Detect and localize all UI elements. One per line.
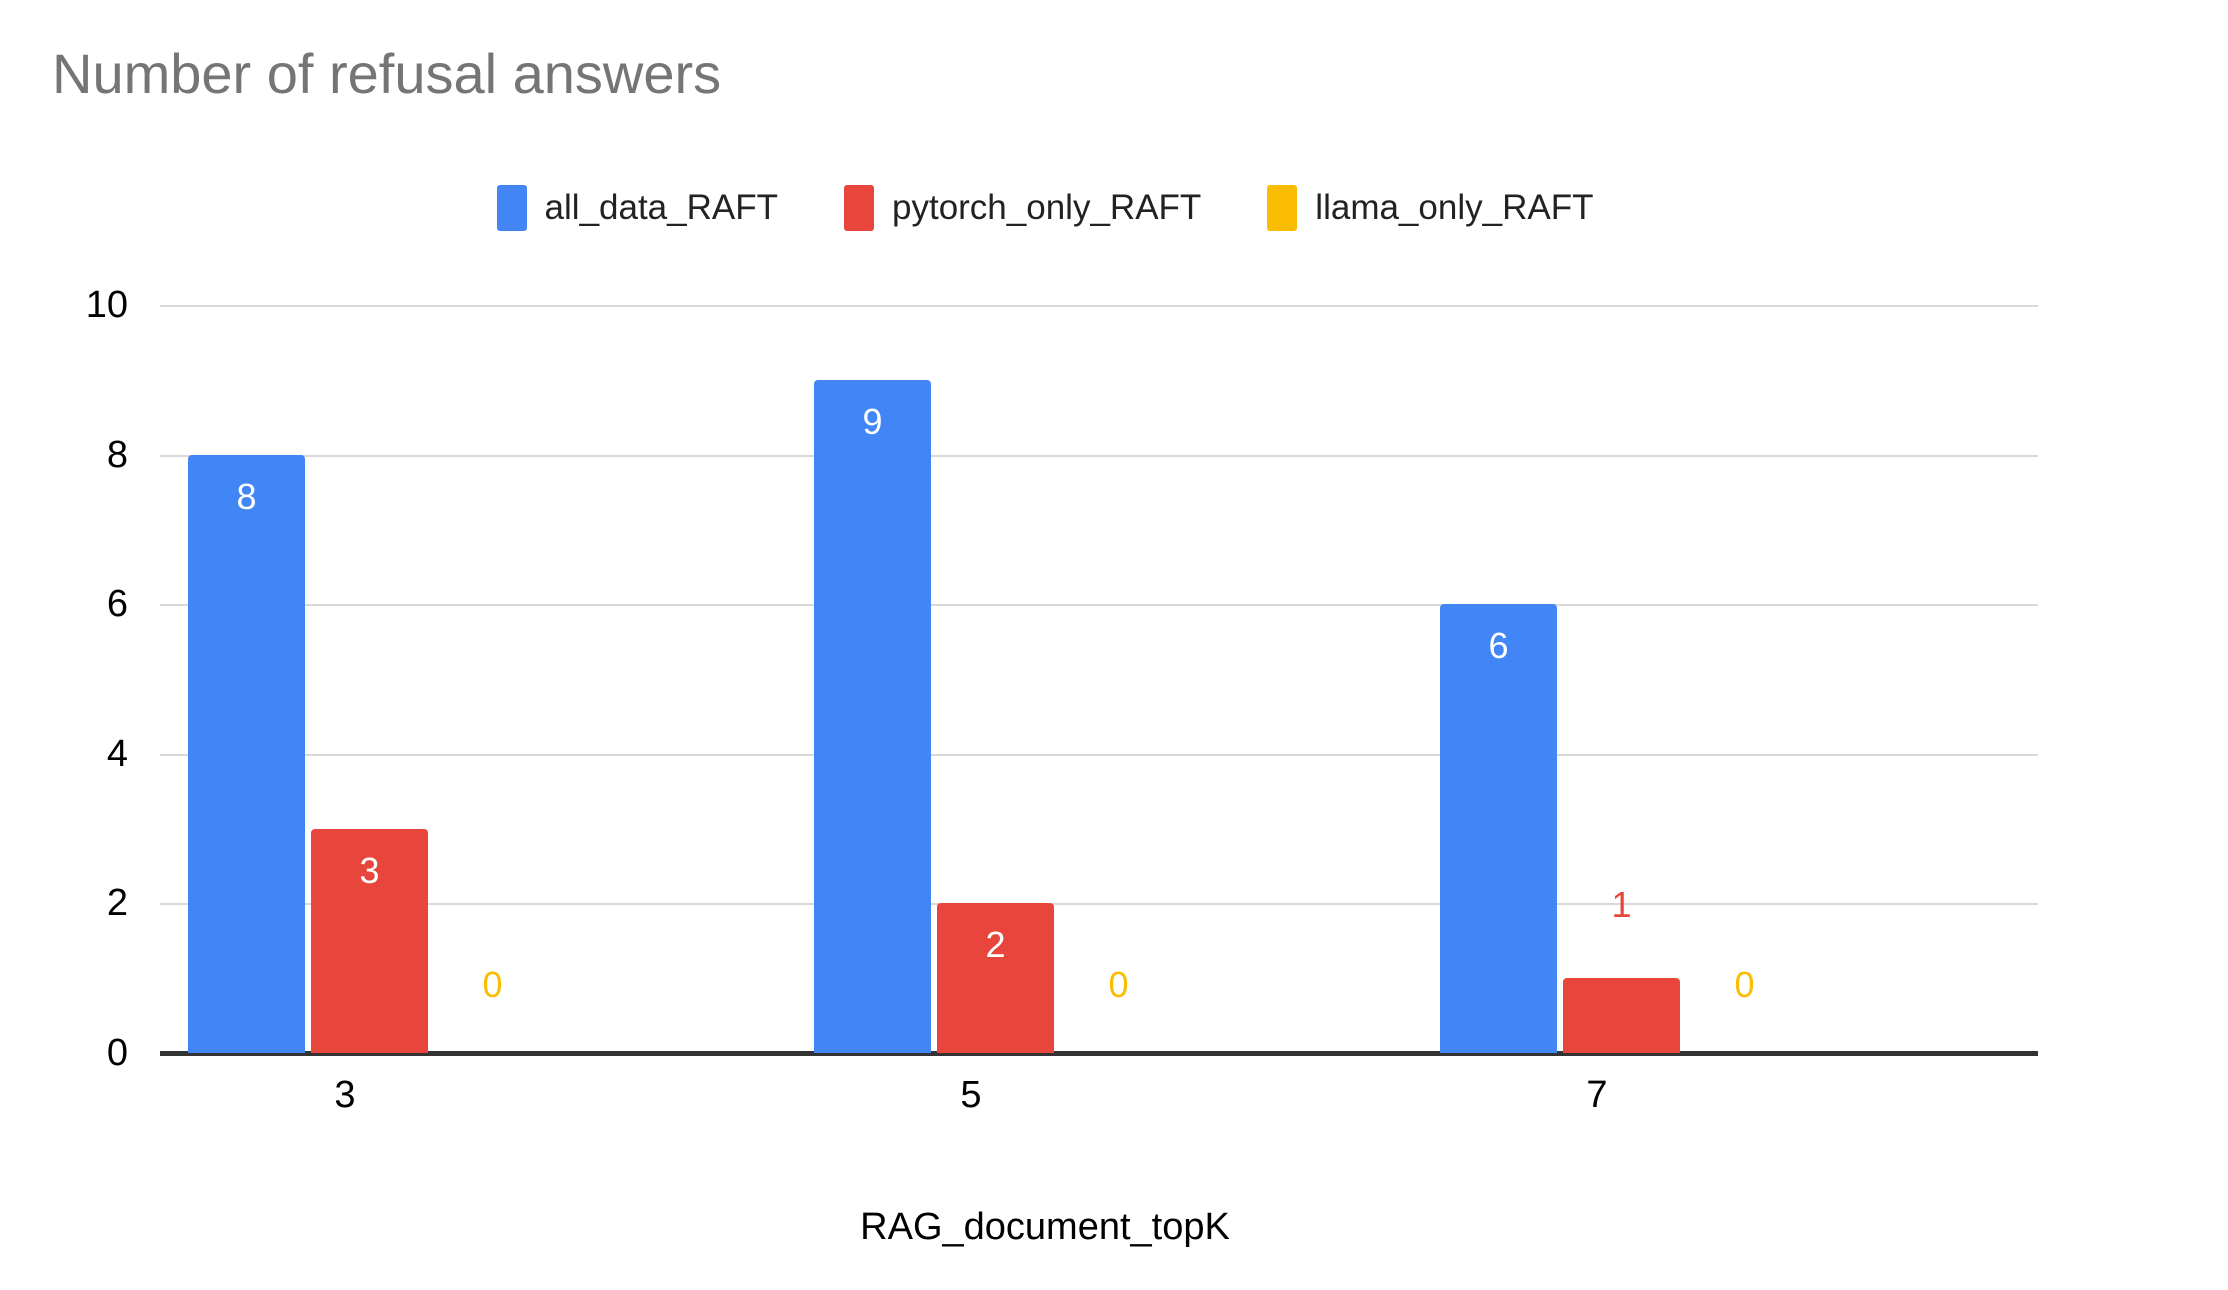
legend-item-llama-only-raft[interactable]: llama_only_RAFT: [1267, 185, 1593, 231]
y-axis-tick-label: 0: [0, 1034, 128, 1072]
bar-slot[interactable]: 0: [1060, 305, 1177, 1053]
y-axis-tick-label: 2: [0, 884, 128, 922]
bar-all-data-raft[interactable]: [814, 380, 931, 1053]
bar-slot[interactable]: 8: [188, 305, 305, 1053]
x-axis-title: RAG_document_topK: [0, 1205, 2090, 1249]
bar-slot[interactable]: 1: [1563, 305, 1680, 1053]
bar-all-data-raft[interactable]: [1440, 604, 1557, 1053]
bar-value-label: 0: [1060, 967, 1177, 1003]
legend-item-label: all_data_RAFT: [545, 188, 778, 228]
legend-item-label: pytorch_only_RAFT: [892, 188, 1201, 228]
x-axis-tick-label: 5: [960, 1073, 981, 1117]
bar-slot[interactable]: 2: [937, 305, 1054, 1053]
bar-chart: Number of refusal answers all_data_RAFT …: [0, 0, 2228, 1290]
bar-slot[interactable]: 9: [814, 305, 931, 1053]
legend-item-all-data-raft[interactable]: all_data_RAFT: [497, 185, 778, 231]
y-axis-tick-label: 4: [0, 735, 128, 773]
y-axis-tick-label: 6: [0, 585, 128, 623]
bar-value-label: 3: [311, 853, 428, 889]
bar-value-label: 8: [188, 479, 305, 515]
x-axis-tick-label: 7: [1586, 1073, 1607, 1117]
bar-group: 6 1 0: [1412, 305, 2038, 1053]
bar-value-label: 9: [814, 404, 931, 440]
x-axis-tick-label: 3: [334, 1073, 355, 1117]
bar-value-label: 0: [1686, 967, 1803, 1003]
legend-swatch-icon: [497, 185, 527, 231]
bar-pytorch-only-raft[interactable]: [1563, 978, 1680, 1053]
bar-group: 9 2 0: [786, 305, 1412, 1053]
legend-item-label: llama_only_RAFT: [1315, 188, 1593, 228]
bar-groups: 8 3 0 9 2: [160, 305, 2038, 1053]
bar-slot[interactable]: 6: [1440, 305, 1557, 1053]
chart-title: Number of refusal answers: [52, 40, 721, 108]
x-axis-ticks: 3 5 7: [160, 1073, 2038, 1117]
bar-slot[interactable]: 3: [311, 305, 428, 1053]
legend-item-pytorch-only-raft[interactable]: pytorch_only_RAFT: [844, 185, 1201, 231]
bar-value-label: 1: [1563, 887, 1680, 923]
bar-all-data-raft[interactable]: [188, 455, 305, 1053]
bar-group: 8 3 0: [160, 305, 786, 1053]
y-axis-tick-label: 8: [0, 436, 128, 474]
x-axis-tick: 7: [1412, 1073, 2038, 1117]
bar-slot[interactable]: 0: [1686, 305, 1803, 1053]
bar-value-label: 2: [937, 927, 1054, 963]
bar-value-label: 6: [1440, 628, 1557, 664]
y-axis-tick-label: 10: [0, 286, 128, 324]
chart-legend: all_data_RAFT pytorch_only_RAFT llama_on…: [0, 185, 2090, 231]
bar-value-label: 0: [434, 967, 551, 1003]
x-axis-tick: 3: [160, 1073, 786, 1117]
bar-slot[interactable]: 0: [434, 305, 551, 1053]
x-axis-tick: 5: [786, 1073, 1412, 1117]
legend-swatch-icon: [844, 185, 874, 231]
legend-swatch-icon: [1267, 185, 1297, 231]
